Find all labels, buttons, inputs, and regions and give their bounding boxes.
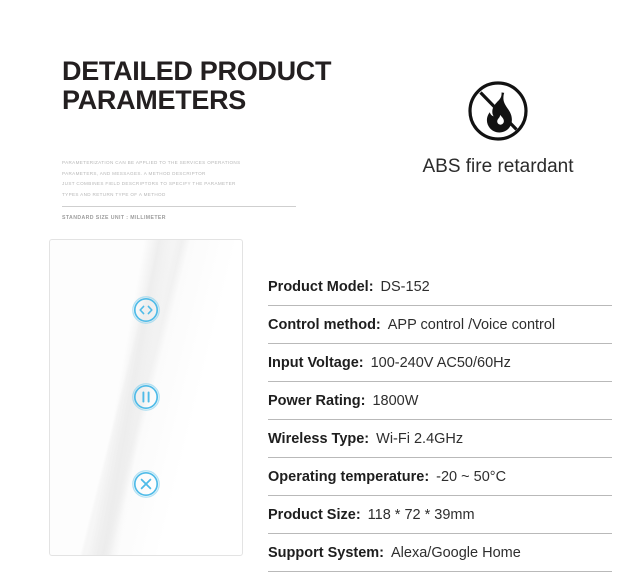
close-x-icon	[142, 480, 151, 489]
spec-label: Operating temperature:	[268, 469, 429, 485]
spec-label: Control method:	[268, 317, 381, 333]
page-title-line-1: DETAILED PRODUCT	[62, 57, 362, 86]
pause-icon	[143, 392, 148, 401]
open-chevrons-icon	[140, 306, 152, 313]
spec-value: Alexa/Google Home	[391, 545, 521, 561]
table-row: Product Size: 118 * 72 * 39mm	[268, 496, 612, 534]
open-touch-button[interactable]	[130, 294, 162, 326]
spec-value: -20 ~ 50°C	[436, 469, 506, 485]
table-row: Input Voltage: 100-240V AC50/60Hz	[268, 344, 612, 382]
product-parameters-table: Product Model: DS-152 Control method: AP…	[268, 268, 612, 572]
no-fire-icon	[467, 80, 529, 142]
spec-label: Input Voltage:	[268, 355, 364, 371]
spec-value: 100-240V AC50/60Hz	[371, 355, 511, 371]
intro-divider	[62, 206, 296, 207]
spec-value: APP control /Voice control	[388, 317, 555, 333]
page-title: DETAILED PRODUCT PARAMETERS	[62, 57, 362, 115]
spec-label: Power Rating:	[268, 393, 365, 409]
intro-block: PARAMETERIZATION CAN BE APPLIED TO THE S…	[62, 158, 302, 221]
intro-paragraph-line: PARAMETERS, AND MESSAGES. A METHOD DESCR…	[62, 169, 302, 180]
intro-paragraph-line: TYPES AND RETURN TYPE OF A METHOD	[62, 190, 302, 201]
table-row: Product Model: DS-152	[268, 268, 612, 306]
table-row: Support System: Alexa/Google Home	[268, 534, 612, 572]
table-row: Power Rating: 1800W	[268, 382, 612, 420]
spec-value: 118 * 72 * 39mm	[368, 507, 475, 523]
table-row: Operating temperature: -20 ~ 50°C	[268, 458, 612, 496]
standard-size-unit-note: STANDARD SIZE UNIT : MILLIMETER	[62, 215, 302, 221]
spec-label: Product Model:	[268, 279, 374, 295]
spec-value: DS-152	[381, 279, 430, 295]
spec-value: Wi-Fi 2.4GHz	[376, 431, 463, 447]
smart-curtain-switch-panel	[49, 239, 243, 556]
pause-touch-button[interactable]	[130, 381, 162, 413]
spec-label: Product Size:	[268, 507, 361, 523]
close-touch-button[interactable]	[130, 468, 162, 500]
table-row: Control method: APP control /Voice contr…	[268, 306, 612, 344]
fire-retardant-caption: ABS fire retardant	[378, 156, 618, 178]
spec-value: 1800W	[372, 393, 418, 409]
fire-retardant-badge: ABS fire retardant	[378, 80, 618, 178]
spec-label: Wireless Type:	[268, 431, 369, 447]
intro-paragraph-line: PARAMETERIZATION CAN BE APPLIED TO THE S…	[62, 158, 302, 169]
page-title-line-2: PARAMETERS	[62, 86, 362, 115]
table-row: Wireless Type: Wi-Fi 2.4GHz	[268, 420, 612, 458]
spec-label: Support System:	[268, 545, 384, 561]
intro-paragraph-line: JUST COMBINES FIELD DESCRIPTORS TO SPECI…	[62, 179, 302, 190]
